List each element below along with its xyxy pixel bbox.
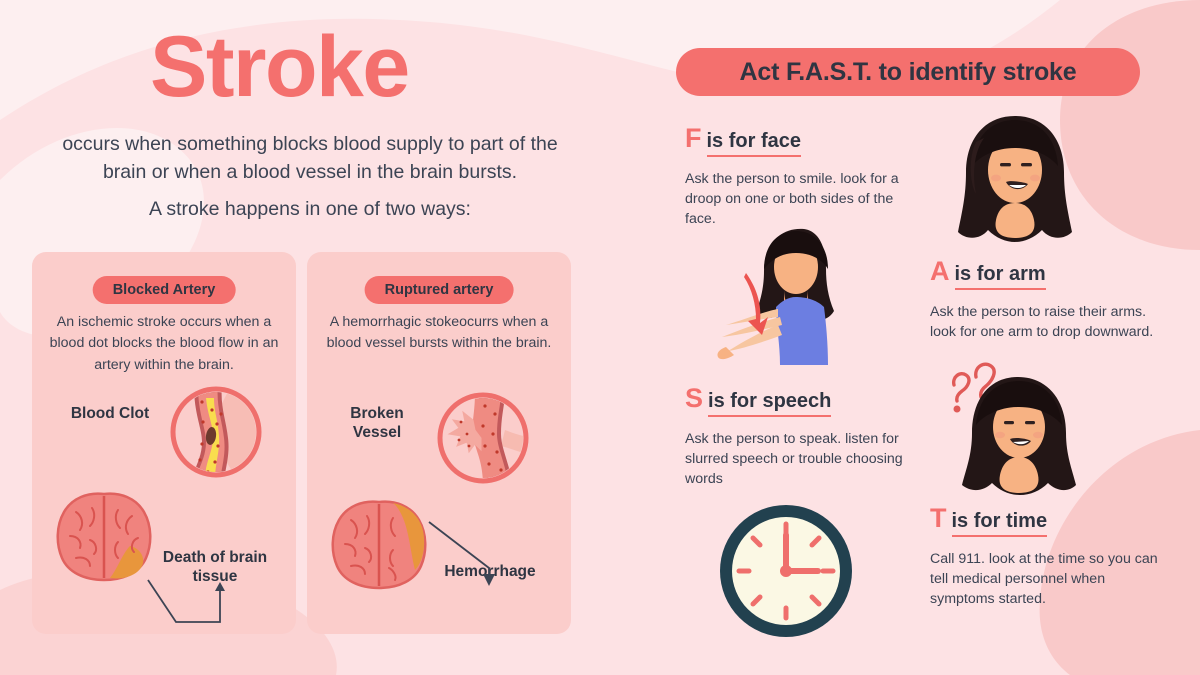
intro-text: occurs when something blocks blood suppl…: [60, 130, 560, 187]
confused-woman-icon: [936, 355, 1091, 505]
right-column: Act F.A.S.T. to identify stroke Fis for …: [620, 0, 1200, 675]
brain-icon: [52, 490, 156, 584]
fast-body-time: Call 911. look at the time so you can te…: [930, 549, 1160, 609]
fast-phrase-face: is for face: [707, 130, 801, 157]
card-description-blocked-artery: An ischemic stroke occurs when a blood d…: [46, 312, 282, 376]
smiling-woman-face-icon: [940, 108, 1090, 248]
fast-block-face: Fis for face Ask the person to smile. lo…: [685, 125, 915, 229]
woman-drooping-arm-icon: [706, 225, 886, 380]
blocked-artery-icon: [168, 384, 264, 480]
left-column: Stroke occurs when something blocks bloo…: [0, 0, 620, 675]
brain-icon: [327, 498, 431, 592]
fast-phrase-arm: is for arm: [955, 263, 1046, 290]
arrow-up-icon: [144, 578, 234, 632]
fast-letter-t: T: [930, 503, 947, 533]
ruptured-artery-icon: [435, 390, 531, 486]
subintro-text: A stroke happens in one of two ways:: [60, 198, 560, 221]
fast-phrase-speech: is for speech: [708, 390, 831, 417]
fast-block-time: Tis for time Call 911. look at the time …: [930, 505, 1160, 609]
card-blocked-artery: Blocked Artery An ischemic stroke occurs…: [32, 252, 296, 634]
fast-head-arm: Ais for arm: [930, 258, 1160, 288]
card-description-ruptured-artery: A hemorrhagic stokeocurrs when a blood v…: [321, 312, 557, 355]
label-blood-clot: Blood Clot: [70, 404, 150, 423]
fast-block-speech: Sis for speech Ask the person to speak. …: [685, 385, 915, 489]
fast-letter-f: F: [685, 123, 702, 153]
fast-banner: Act F.A.S.T. to identify stroke: [676, 48, 1140, 96]
fast-block-arm: Ais for arm Ask the person to raise thei…: [930, 258, 1160, 342]
fast-body-face: Ask the person to smile. look for a droo…: [685, 169, 915, 229]
arrow-down-icon: [427, 520, 517, 592]
fast-body-arm: Ask the person to raise their arms. look…: [930, 302, 1160, 342]
fast-letter-a: A: [930, 256, 950, 286]
clock-icon: [713, 498, 859, 644]
fast-letter-s: S: [685, 383, 703, 413]
fast-head-time: Tis for time: [930, 505, 1160, 535]
card-ruptured-artery: Ruptured artery A hemorrhagic stokeocurr…: [307, 252, 571, 634]
fast-head-face: Fis for face: [685, 125, 915, 155]
page-title: Stroke: [150, 24, 409, 110]
fast-phrase-time: is for time: [952, 510, 1048, 537]
card-pill-ruptured-artery: Ruptured artery: [365, 276, 514, 304]
fast-banner-label: Act F.A.S.T. to identify stroke: [740, 58, 1077, 87]
label-broken-vessel: Broken Vessel: [335, 404, 419, 443]
fast-head-speech: Sis for speech: [685, 385, 915, 415]
fast-body-speech: Ask the person to speak. listen for slur…: [685, 429, 915, 489]
infographic-canvas: Stroke occurs when something blocks bloo…: [0, 0, 1200, 675]
card-pill-blocked-artery: Blocked Artery: [93, 276, 236, 304]
